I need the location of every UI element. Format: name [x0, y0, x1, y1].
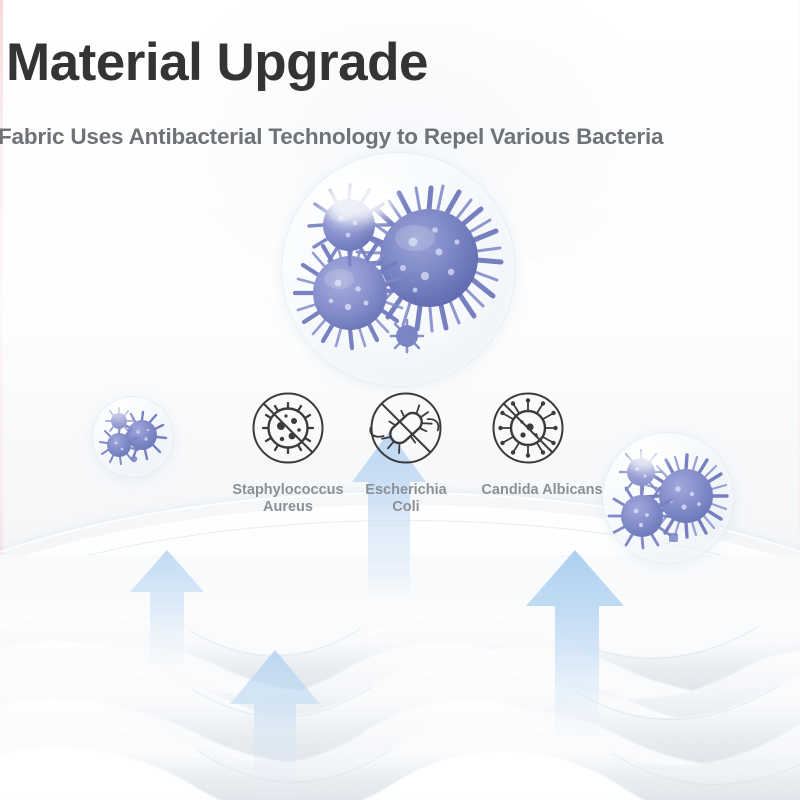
airflow-arrow-right — [524, 548, 626, 738]
no-rod-bacteria-icon — [369, 391, 443, 465]
promo-banner: Material Upgrade Fabric Uses Antibacteri… — [0, 0, 800, 800]
bubble-left — [92, 396, 174, 478]
no-candida-cell-icon — [491, 391, 565, 465]
bubble-main — [281, 152, 516, 387]
airflow-arrow-lower-left — [228, 648, 322, 800]
bacteria-label-candida-albicans: Candida Albicans — [452, 482, 632, 499]
page-title: Material Upgrade — [6, 36, 428, 89]
page-subtitle: Fabric Uses Antibacterial Technology to … — [0, 126, 663, 149]
no-coccus-bacteria-icon — [251, 391, 325, 465]
airflow-arrow-left — [128, 548, 206, 666]
